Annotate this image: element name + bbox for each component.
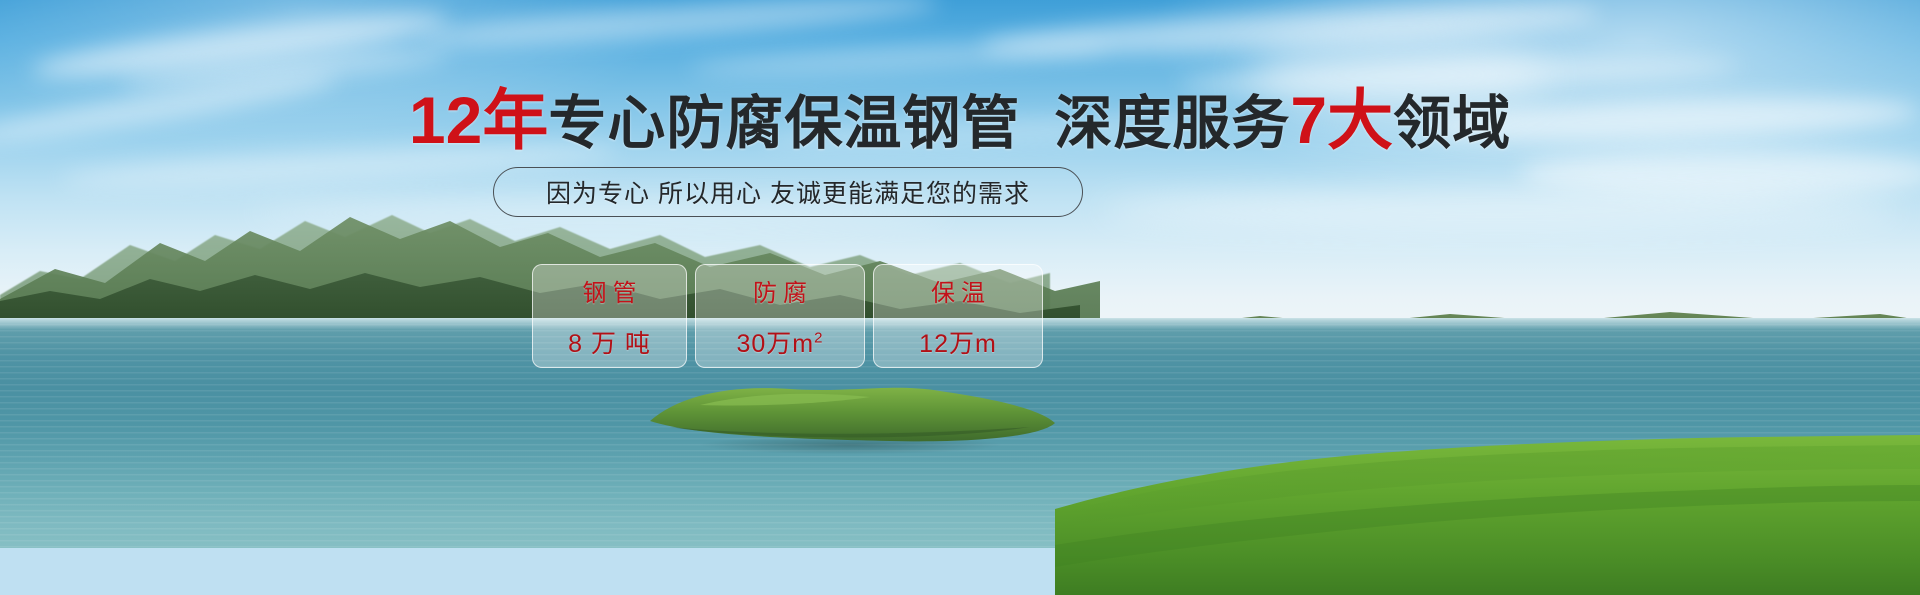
banner-headline: 12年专心防腐保温钢管深度服务7大领域 [0, 88, 1920, 156]
headline-main-dark: 专心防腐保温钢管 [548, 91, 1020, 156]
stat-card-steel-pipe: 钢管 8 万 吨 [532, 264, 687, 368]
stat-card-group: 钢管 8 万 吨 防腐 30万m2 保温 12万m [532, 264, 1043, 368]
stat-label: 钢管 [577, 273, 643, 308]
hero-banner: 12年专心防腐保温钢管深度服务7大领域 因为专心 所以用心 友诚更能满足您的需求… [0, 0, 1920, 595]
headline-fields-dark: 领域 [1393, 91, 1511, 156]
subtitle-text: 因为专心 所以用心 友诚更能满足您的需求 [546, 174, 1030, 210]
stat-unit-superscript: 2 [814, 329, 823, 346]
stat-card-anticorrosion: 防腐 30万m2 [695, 264, 865, 368]
stat-value: 12万m [919, 324, 997, 360]
stat-label: 防腐 [747, 273, 813, 308]
headline-service-dark: 深度服务 [1054, 91, 1290, 156]
headline-seven-red: 7大 [1290, 83, 1393, 157]
stat-label: 保温 [925, 273, 991, 308]
stat-value: 30万m2 [737, 324, 824, 360]
subtitle-pill: 因为专心 所以用心 友诚更能满足您的需求 [493, 167, 1083, 217]
stat-card-insulation: 保温 12万m [873, 264, 1043, 368]
grass-water-blend [1030, 430, 1230, 595]
grass-islet-image [640, 375, 1060, 445]
headline-years-red: 12年 [409, 83, 548, 157]
stat-value: 8 万 吨 [568, 324, 651, 360]
